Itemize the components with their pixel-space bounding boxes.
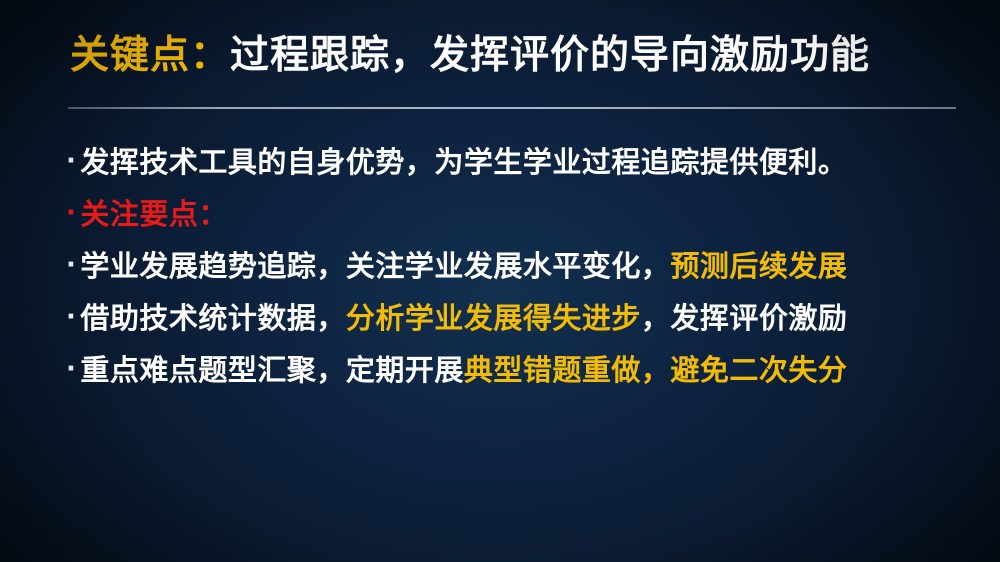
bullet-dot-icon: ·: [66, 187, 76, 239]
bullet-text-segment: 分析学业发展得失进步: [346, 301, 641, 335]
page-title-rest: 过程跟踪，发挥评价的导向激励功能: [230, 33, 870, 78]
bullet-item: ·发挥技术工具的自身优势，为学生学业过程追踪提供便利。: [66, 136, 966, 188]
bullet-text-segment: 重点难点题型汇聚，定期开展: [80, 353, 464, 387]
bullet-text-segment: ，发挥评价激励: [641, 301, 848, 335]
bullet-dot-icon: ·: [66, 291, 76, 343]
bullet-text-segment: 典型错题重做，避免二次失分: [464, 353, 848, 387]
bullet-item: ·借助技术统计数据，分析学业发展得失进步，发挥评价激励: [66, 292, 966, 344]
bullet-text-segment: 关注要点：: [80, 197, 228, 231]
bullet-item: ·关注要点：: [66, 188, 966, 240]
bullet-dot-icon: ·: [66, 343, 76, 395]
bullet-text-segment: 发挥技术工具的自身优势，为学生学业过程追踪提供便利。: [80, 145, 847, 179]
bullet-text-segment: 借助技术统计数据，: [80, 301, 346, 335]
slide-canvas: 关键点：过程跟踪，发挥评价的导向激励功能 ·发挥技术工具的自身优势，为学生学业过…: [0, 0, 1000, 562]
bullet-text-segment: 预测后续发展: [670, 249, 847, 283]
bullet-dot-icon: ·: [66, 135, 76, 187]
bullet-list: ·发挥技术工具的自身优势，为学生学业过程追踪提供便利。·关注要点：·学业发展趋势…: [66, 136, 966, 396]
title-divider: [68, 107, 956, 109]
page-title: 关键点：过程跟踪，发挥评价的导向激励功能: [70, 36, 870, 75]
page-title-highlight: 关键点：: [70, 33, 230, 78]
bullet-item: ·重点难点题型汇聚，定期开展典型错题重做，避免二次失分: [66, 344, 966, 396]
bullet-dot-icon: ·: [66, 239, 76, 291]
bullet-item: ·学业发展趋势追踪，关注学业发展水平变化，预测后续发展: [66, 240, 966, 292]
bullet-text-segment: 学业发展趋势追踪，关注学业发展水平变化，: [80, 249, 670, 283]
